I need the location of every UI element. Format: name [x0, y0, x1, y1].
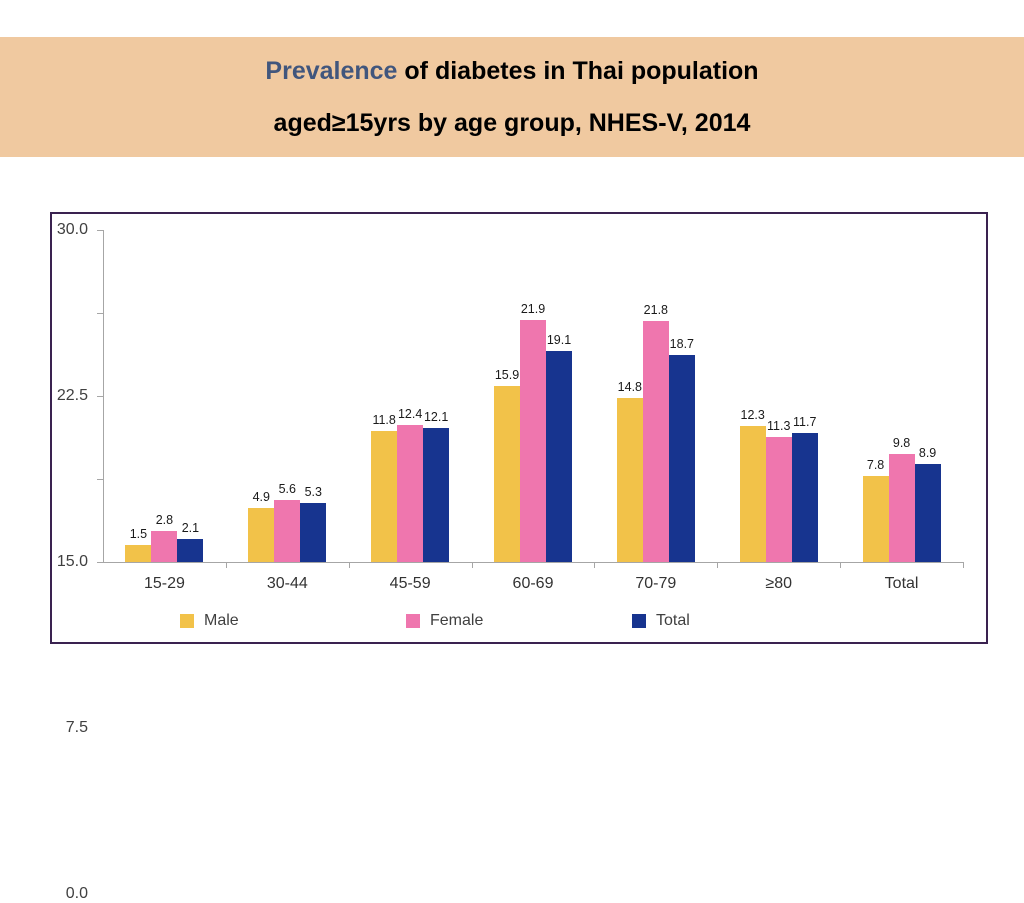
y-axis-tick: 0.0 — [97, 562, 103, 563]
legend-label: Total — [656, 612, 690, 630]
y-axis-tick: 30.0 — [97, 230, 103, 231]
bar-value-label: 19.1 — [547, 333, 571, 347]
bar-total-70-79 — [669, 355, 695, 562]
bar-value-label: 11.7 — [793, 415, 816, 429]
bar-female-30-44 — [274, 500, 300, 562]
legend-swatch-icon — [632, 614, 646, 628]
bar-male-45-59 — [371, 431, 397, 562]
chart-legend: MaleFemaleTotal — [52, 612, 986, 630]
y-axis-tick: 7.5 — [97, 479, 103, 480]
bar-total-45-59 — [423, 428, 449, 562]
x-axis-tick — [594, 562, 595, 568]
bar-female-70-79 — [643, 321, 669, 562]
x-axis-tick — [472, 562, 473, 568]
bar-total-Total — [915, 464, 941, 562]
legend-item-male[interactable]: Male — [180, 612, 406, 630]
y-axis-tick: 15.0 — [97, 396, 103, 397]
x-axis-tick — [349, 562, 350, 568]
page-title-line-1: Prevalence of diabetes in Thai populatio… — [265, 45, 758, 97]
legend-label: Male — [204, 612, 239, 630]
y-axis-tick-label: 30.0 — [57, 221, 88, 239]
bar-value-label: 1.5 — [130, 527, 147, 541]
y-axis-tick-label: 15.0 — [57, 553, 88, 571]
bar-male-15-29 — [125, 545, 151, 562]
bar-total-15-29 — [177, 539, 203, 562]
bar-value-label: 2.1 — [182, 521, 199, 535]
title-line-1-rest: of diabetes in Thai population — [397, 57, 758, 85]
legend-swatch-icon — [406, 614, 420, 628]
bar-value-label: 5.3 — [305, 485, 322, 499]
bar-value-label: 12.3 — [741, 408, 765, 422]
bar-value-label: 4.9 — [253, 490, 270, 504]
bar-value-label: 5.6 — [279, 482, 296, 496]
x-axis-tick — [963, 562, 964, 568]
bar-value-label: 12.1 — [424, 410, 448, 424]
bar-male-70-79 — [617, 398, 643, 562]
y-axis-tick-label: 7.5 — [66, 719, 88, 737]
bar-female-60-69 — [520, 320, 546, 562]
bar-value-label: 11.3 — [767, 419, 790, 433]
bar-value-label: 2.8 — [156, 513, 173, 527]
bar-value-label: 11.8 — [372, 413, 395, 427]
page-title-line-2: aged≥15yrs by age group, NHES-V, 2014 — [274, 97, 751, 149]
x-axis-category-label: 30-44 — [267, 575, 308, 593]
bar-value-label: 21.9 — [521, 302, 545, 316]
bar-value-label: 8.9 — [919, 446, 936, 460]
bar-value-label: 7.8 — [867, 458, 884, 472]
legend-item-female[interactable]: Female — [406, 612, 632, 630]
bar-male-Total — [863, 476, 889, 562]
title-accent-word: Prevalence — [265, 57, 397, 85]
bar-male-60-69 — [494, 386, 520, 562]
bar-value-label: 12.4 — [398, 407, 422, 421]
bar-total-60-69 — [546, 351, 572, 562]
bar-value-label: 21.8 — [644, 303, 668, 317]
legend-item-total[interactable]: Total — [632, 612, 858, 630]
bar-value-label: 18.7 — [670, 337, 694, 351]
legend-label: Female — [430, 612, 483, 630]
bar-male-30-44 — [248, 508, 274, 562]
x-axis-tick — [840, 562, 841, 568]
x-axis-category-label: Total — [885, 575, 919, 593]
x-axis-category-label: 45-59 — [390, 575, 431, 593]
bar-total-≥80 — [792, 433, 818, 562]
bar-value-label: 9.8 — [893, 436, 910, 450]
bar-female-45-59 — [397, 425, 423, 562]
bar-total-30-44 — [300, 503, 326, 562]
legend-swatch-icon — [180, 614, 194, 628]
y-axis-tick: 22.5 — [97, 313, 103, 314]
y-axis-tick-label: 22.5 — [57, 387, 88, 405]
bar-female-≥80 — [766, 437, 792, 562]
bar-value-label: 14.8 — [618, 380, 642, 394]
x-axis-category-label: 60-69 — [513, 575, 554, 593]
x-axis-line — [103, 562, 963, 563]
x-axis-tick — [717, 562, 718, 568]
bar-male-≥80 — [740, 426, 766, 562]
y-axis-line — [103, 230, 104, 562]
x-axis-tick — [226, 562, 227, 568]
plot-area: 0.07.515.022.530.015-291.52.82.130-444.9… — [103, 230, 963, 562]
bar-female-15-29 — [151, 531, 177, 562]
bar-female-Total — [889, 454, 915, 562]
x-axis-category-label: 70-79 — [635, 575, 676, 593]
y-axis-tick-label: 0.0 — [66, 885, 88, 903]
x-axis-category-label: 15-29 — [144, 575, 185, 593]
bar-value-label: 15.9 — [495, 368, 519, 382]
title-banner: Prevalence of diabetes in Thai populatio… — [0, 37, 1024, 157]
x-axis-category-label: ≥80 — [765, 575, 792, 593]
chart-container: 0.07.515.022.530.015-291.52.82.130-444.9… — [50, 212, 988, 644]
